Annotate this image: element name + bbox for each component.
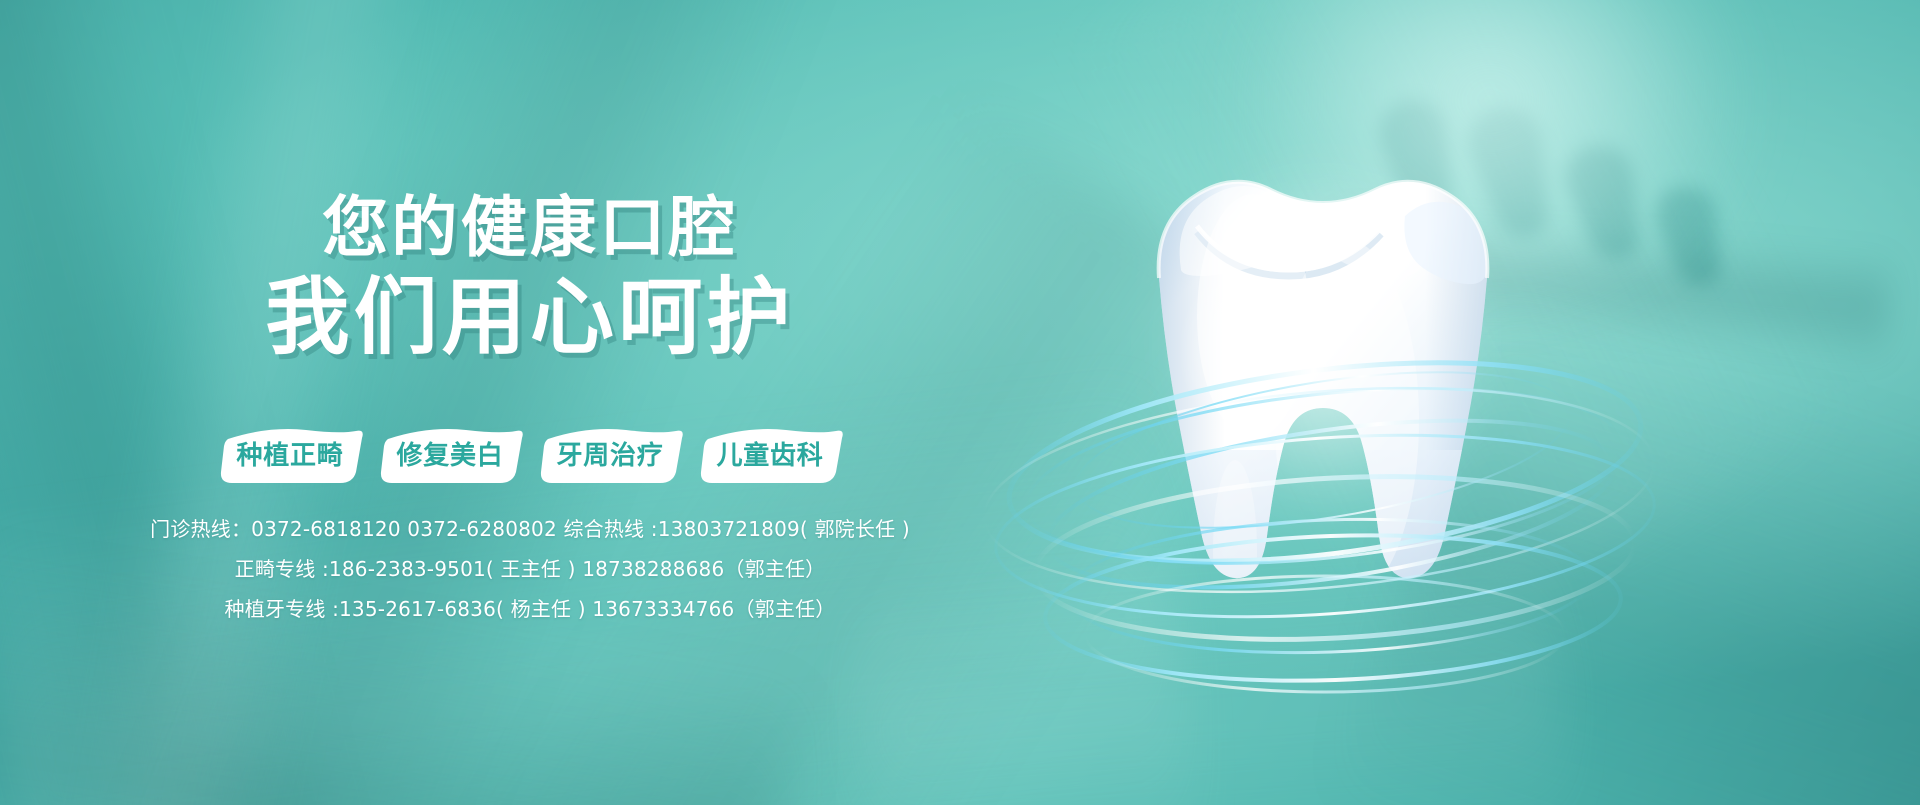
dental-clinic-banner: 您的健康口腔 我们用心呵护 种植正畸 修复美白 牙周治疗 儿童 (0, 0, 1920, 805)
contact-line-orthodontics: 正畸专线 :186-2383-9501( 王主任 ) 18738288686（郭… (0, 553, 1060, 582)
service-tag-periodontal-treatment[interactable]: 牙周治疗 (534, 425, 687, 483)
headline-line-1: 您的健康口腔 (0, 195, 1060, 261)
service-tag-restoration-whitening[interactable]: 修复美白 (374, 425, 527, 483)
headline-line-2: 我们用心呵护 (0, 275, 1060, 359)
service-tag-label: 儿童齿科 (716, 435, 823, 474)
contact-line-clinic-hotline: 门诊热线：0372-6818120 0372-6280802 综合热线 :138… (0, 513, 1060, 542)
service-tag-label: 牙周治疗 (556, 435, 663, 474)
tooth-illustration (1085, 120, 1565, 680)
service-tag-implant-orthodontics[interactable]: 种植正畸 (214, 425, 367, 483)
contact-block: 门诊热线：0372-6818120 0372-6280802 综合热线 :138… (0, 513, 1060, 633)
service-tag-list: 种植正畸 修复美白 牙周治疗 儿童齿科 (0, 425, 1060, 483)
service-tag-label: 修复美白 (396, 435, 503, 474)
headline-block: 您的健康口腔 我们用心呵护 (0, 195, 1060, 359)
service-tag-pediatric-dentistry[interactable]: 儿童齿科 (694, 425, 847, 483)
service-tag-label: 种植正畸 (236, 435, 343, 474)
contact-line-implant: 种植牙专线 :135-2617-6836( 杨主任 ) 13673334766（… (0, 593, 1060, 622)
